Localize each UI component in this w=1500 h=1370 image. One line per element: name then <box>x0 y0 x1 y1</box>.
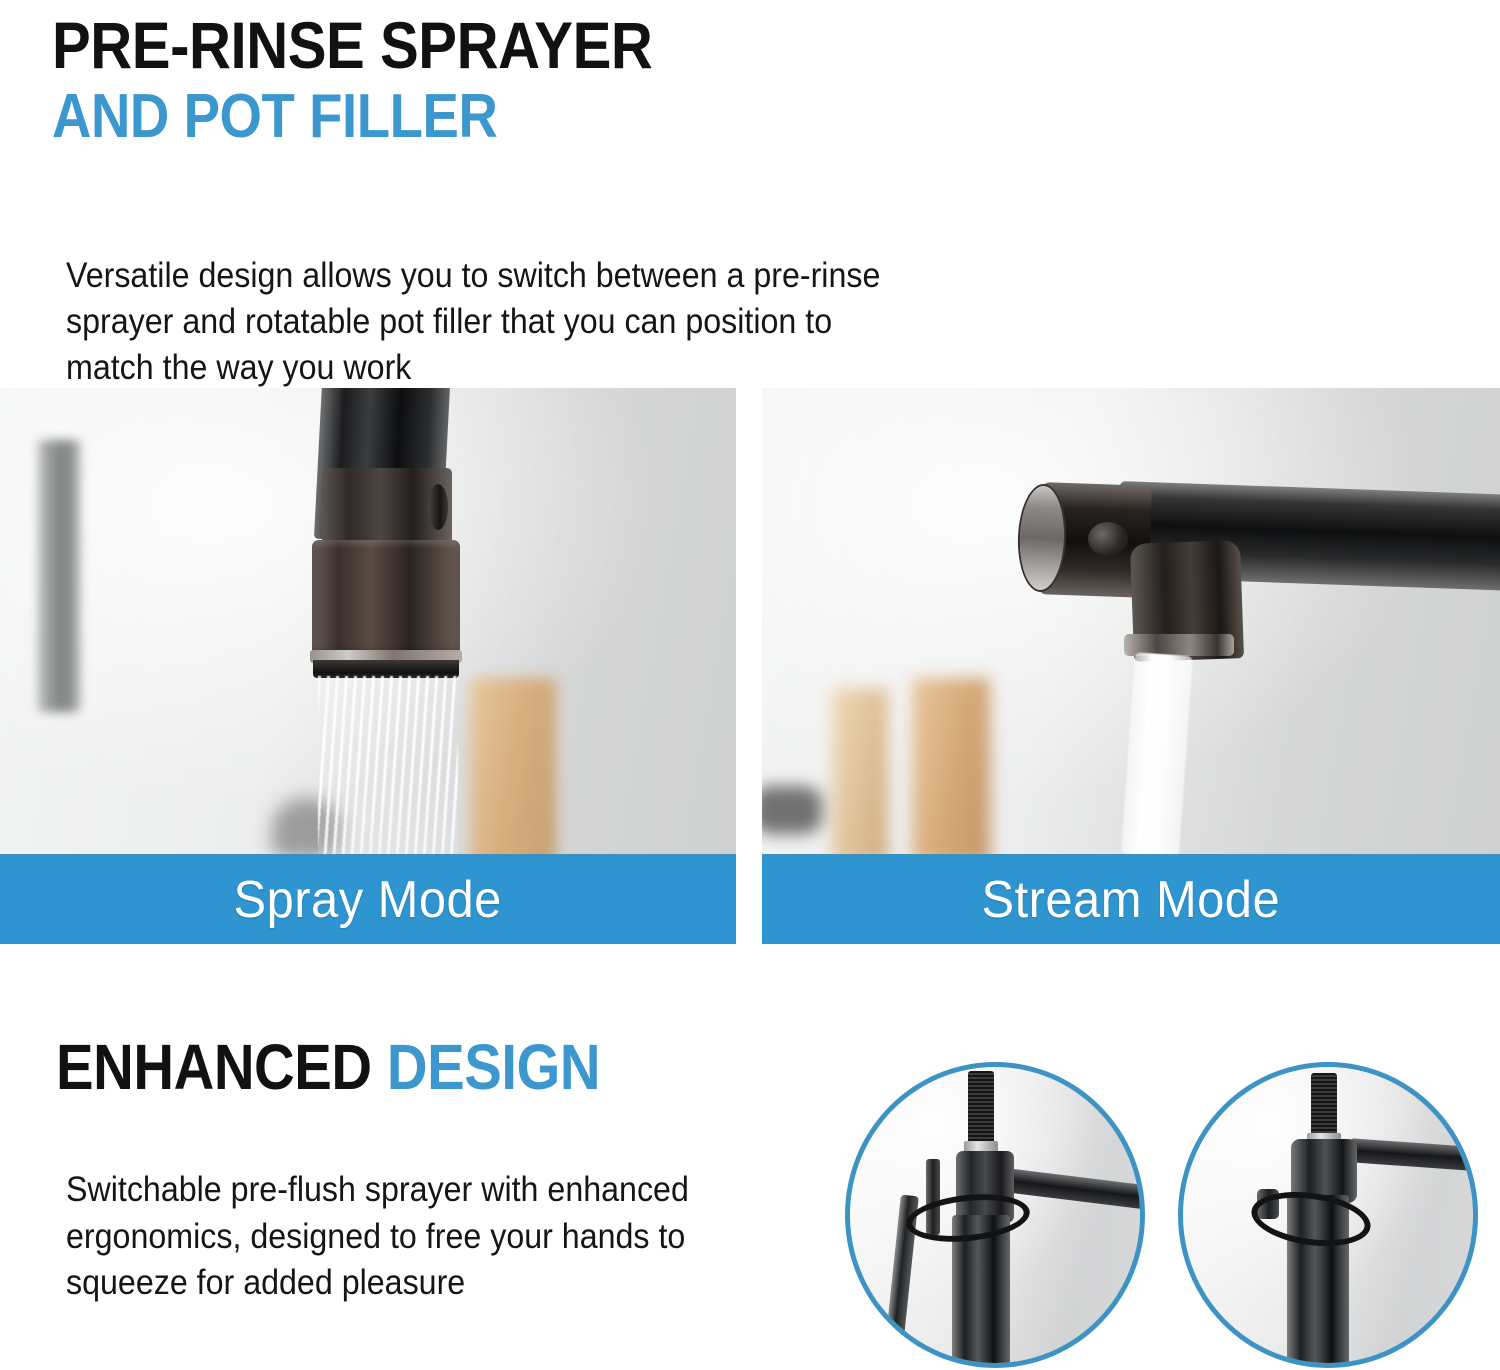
headline-line-primary: PRE-RINSE SPRAYER <box>52 14 652 77</box>
panel-stream-mode: Stream Mode <box>762 388 1500 944</box>
section-title-primary: ENHANCED <box>56 1031 372 1103</box>
section-title-secondary: DESIGN <box>387 1031 600 1103</box>
detail-image-lever-engaged <box>1178 1062 1478 1368</box>
product-photo-row: Spray Mode Stream Mode <box>0 388 1500 944</box>
caption-label: Spray Mode <box>234 870 502 930</box>
header-section: PRE-RINSE SPRAYER AND POT FILLER Versati… <box>0 0 1500 388</box>
caption-bar-spray-mode: Spray Mode <box>0 854 736 944</box>
section-paragraph: Switchable pre-flush sprayer with enhanc… <box>66 1167 765 1307</box>
headline-line-secondary: AND POT FILLER <box>52 87 652 147</box>
blurred-wood-object <box>470 678 556 856</box>
detail-image-lever-released <box>845 1062 1145 1368</box>
caption-bar-stream-mode: Stream Mode <box>762 854 1500 944</box>
blurred-dark-object <box>762 786 822 834</box>
knurled-stem <box>1311 1073 1337 1137</box>
page-title: PRE-RINSE SPRAYER AND POT FILLER <box>52 14 734 147</box>
faucet-mode-button <box>1088 522 1128 556</box>
caption-label: Stream Mode <box>982 870 1281 930</box>
water-spray-fade <box>318 676 458 856</box>
spray-mode-photo <box>0 388 736 856</box>
intro-paragraph: Versatile design allows you to switch be… <box>66 253 922 392</box>
blurred-wood-object-right <box>912 678 990 856</box>
section-title: ENHANCED DESIGN <box>56 1030 600 1104</box>
blurred-wall-frame <box>38 440 80 712</box>
stream-mode-photo <box>762 388 1500 856</box>
knurled-stem <box>968 1071 994 1143</box>
enhanced-design-section: ENHANCED DESIGN Switchable pre-flush spr… <box>0 944 1500 1370</box>
sprayer-head <box>312 540 460 660</box>
sprayer-mode-knob <box>428 484 448 530</box>
blurred-wood-object-left <box>832 688 888 856</box>
panel-spray-mode: Spray Mode <box>0 388 736 944</box>
